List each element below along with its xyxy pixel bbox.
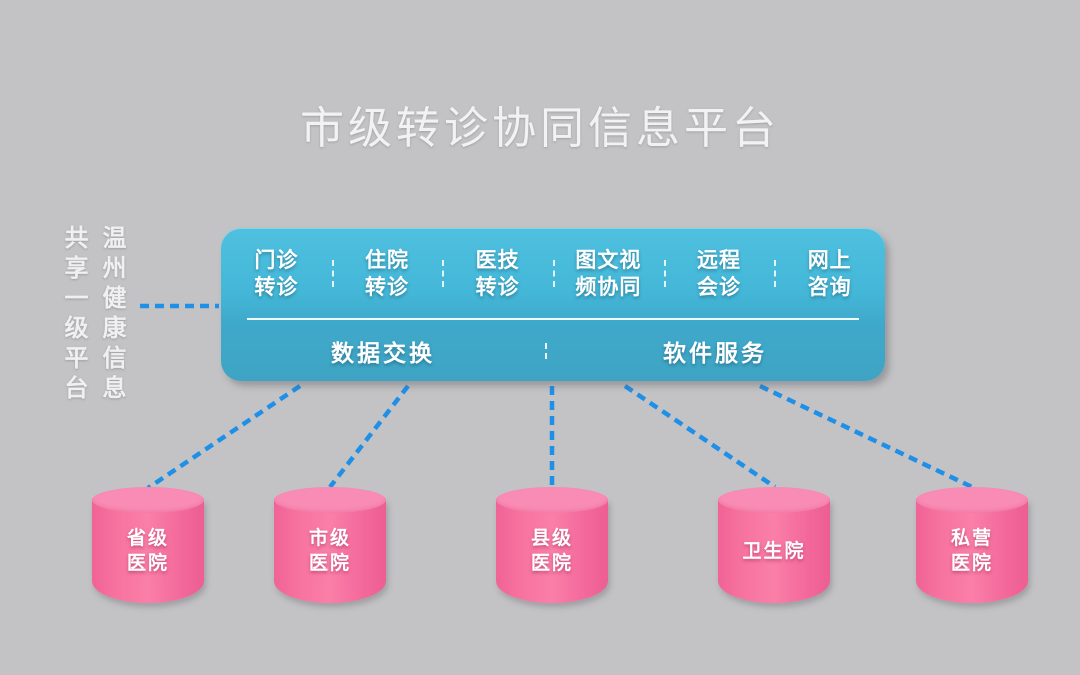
cylinder-label-line1: 县级 — [531, 526, 573, 551]
cylinder-label: 省级 医院 — [92, 499, 204, 603]
service-label-line1: 住院 — [365, 247, 409, 274]
cylinder-label-line2: 医院 — [127, 551, 169, 576]
service-tile-media-collaboration[interactable]: 图文视 频协同 — [553, 247, 664, 301]
cylinder-health-center[interactable]: 卫生院 — [718, 487, 830, 609]
service-label-line1: 医技 — [476, 247, 520, 274]
service-label-line1: 门诊 — [254, 247, 298, 274]
connector-panel-to-cylinder-2 — [330, 386, 408, 487]
cylinder-label: 私营 医院 — [916, 499, 1028, 603]
service-label-line1: 远程 — [697, 247, 741, 274]
cylinder-label-line2: 医院 — [531, 551, 573, 576]
service-label-line2: 转诊 — [365, 274, 409, 301]
cylinder-label-line2: 医院 — [951, 551, 993, 576]
cylinder-county-hospital[interactable]: 县级 医院 — [496, 487, 608, 609]
service-label-line1: 图文视 — [575, 247, 641, 274]
cylinder-label-line1: 私营 — [951, 526, 993, 551]
connector-panel-to-cylinder-4 — [625, 386, 775, 487]
connector-panel-to-cylinder-5 — [760, 386, 972, 487]
service-tile-outpatient-referral[interactable]: 门诊 转诊 — [221, 247, 332, 301]
foundation-tile-data-exchange[interactable]: 数据交换 — [221, 334, 545, 368]
service-label-line2: 转诊 — [476, 274, 520, 301]
cylinder-private-hospital[interactable]: 私营 医院 — [916, 487, 1028, 609]
service-tile-online-inquiry[interactable]: 网上 咨询 — [774, 247, 885, 301]
platform-foundation-row: 数据交换 软件服务 — [221, 320, 885, 381]
service-label-line1: 网上 — [808, 247, 852, 274]
service-label-line2: 频协同 — [575, 274, 641, 301]
service-label-line2: 咨询 — [808, 274, 852, 301]
cylinder-label-line1: 省级 — [127, 526, 169, 551]
cylinder-provincial-hospital[interactable]: 省级 医院 — [92, 487, 204, 609]
platform-service-row: 门诊 转诊 住院 转诊 医技 转诊 图文视 频协同 远程 会诊 网上 咨询 — [221, 228, 885, 319]
foundation-tile-software-service[interactable]: 软件服务 — [545, 334, 885, 368]
cylinder-label-line2: 医院 — [309, 551, 351, 576]
diagram-canvas: 市级转诊协同信息平台 共享一级平台 温州健康信息 门诊 转诊 住院 转诊 医技 … — [0, 0, 1080, 675]
platform-panel: 门诊 转诊 住院 转诊 医技 转诊 图文视 频协同 远程 会诊 网上 咨询 — [221, 228, 885, 381]
cylinder-label-line1: 卫生院 — [742, 539, 805, 564]
cylinder-label: 市级 医院 — [274, 499, 386, 603]
service-label-line2: 会诊 — [697, 274, 741, 301]
service-label-line2: 转诊 — [254, 274, 298, 301]
connector-panel-to-cylinder-1 — [148, 386, 300, 488]
service-tile-remote-consultation[interactable]: 远程 会诊 — [664, 247, 775, 301]
cylinder-label: 卫生院 — [718, 499, 830, 603]
cylinder-label: 县级 医院 — [496, 499, 608, 603]
service-tile-inpatient-referral[interactable]: 住院 转诊 — [332, 247, 443, 301]
cylinder-label-line1: 市级 — [309, 526, 351, 551]
cylinder-municipal-hospital[interactable]: 市级 医院 — [274, 487, 386, 609]
service-tile-medical-tech-referral[interactable]: 医技 转诊 — [442, 247, 553, 301]
